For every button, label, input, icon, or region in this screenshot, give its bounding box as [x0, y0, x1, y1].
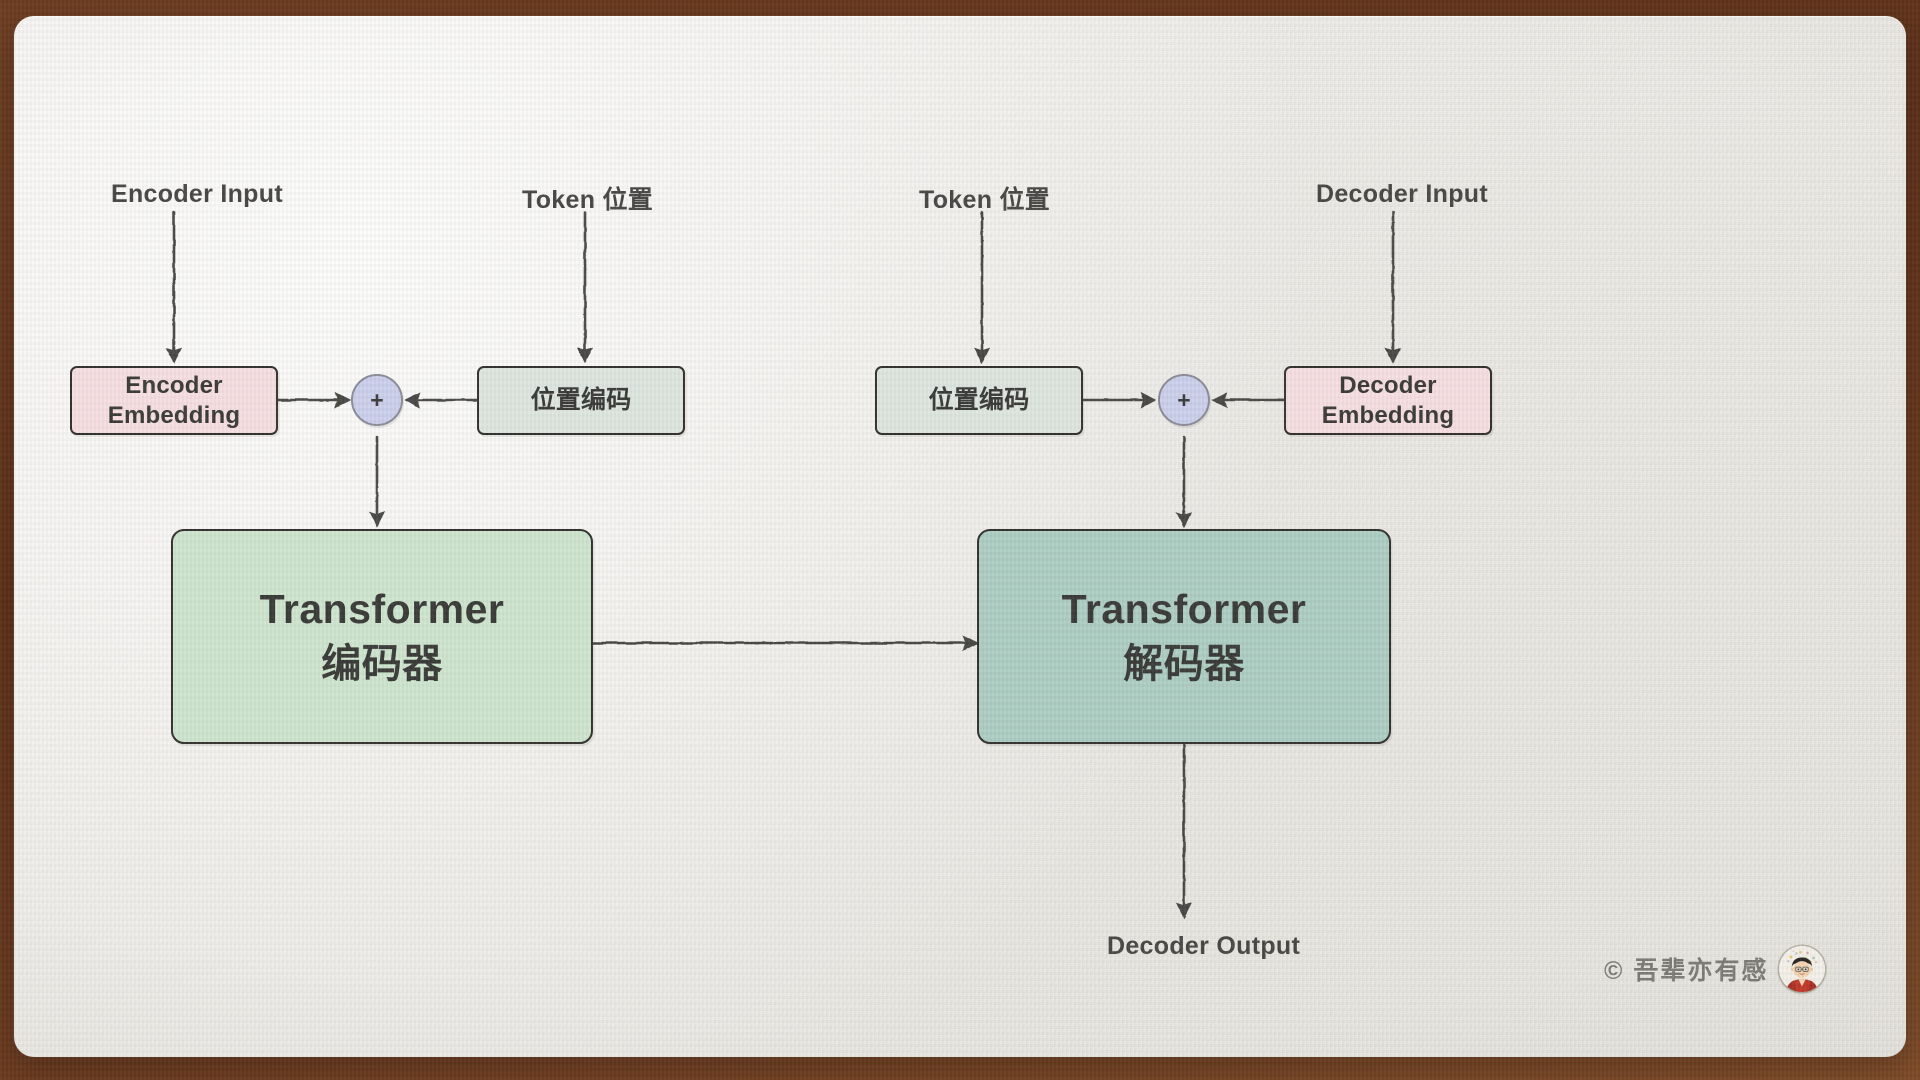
node-encoder-embedding[interactable]: Encoder Embedding [70, 366, 278, 435]
caption-encoder-input: Encoder Input [111, 180, 283, 209]
node-transformer-decoder[interactable]: Transformer 解码器 [977, 529, 1391, 744]
watermark-text: © 吾辈亦有感 [1604, 951, 1768, 987]
node-positional-encoding-left[interactable]: 位置编码 [477, 366, 685, 435]
add-operator-right[interactable]: + [1158, 374, 1210, 426]
transformer-encoder-line-2: 编码器 [321, 640, 443, 689]
diagram-canvas: Encoder Input Token 位置 Token 位置 Decoder … [14, 16, 1906, 1057]
plus-icon: + [370, 387, 383, 414]
node-transformer-encoder[interactable]: Transformer 编码器 [171, 529, 593, 744]
outer-frame: Encoder Input Token 位置 Token 位置 Decoder … [0, 0, 1920, 1080]
transformer-encoder-line-1: Transformer [260, 584, 505, 634]
watermark: © 吾辈亦有感 [1604, 946, 1825, 992]
transformer-decoder-line-2: 解码器 [1123, 640, 1245, 689]
caption-decoder-input: Decoder Input [1316, 180, 1488, 209]
transformer-decoder-line-1: Transformer [1062, 584, 1307, 634]
caption-token-position-right: Token 位置 [919, 180, 1050, 216]
avatar-illustration [1779, 946, 1825, 992]
plus-icon: + [1177, 387, 1190, 414]
positional-encoding-left-label: 位置编码 [531, 385, 632, 416]
caption-decoder-output: Decoder Output [1107, 932, 1300, 961]
positional-encoding-right-label: 位置编码 [929, 385, 1030, 416]
caption-token-position-left: Token 位置 [522, 180, 653, 216]
avatar [1779, 946, 1825, 992]
node-decoder-embedding[interactable]: Decoder Embedding [1284, 366, 1492, 435]
decoder-embedding-line-2: Embedding [1322, 401, 1454, 430]
paper-canvas: Encoder Input Token 位置 Token 位置 Decoder … [14, 16, 1906, 1057]
node-positional-encoding-right[interactable]: 位置编码 [875, 366, 1083, 435]
decoder-embedding-line-1: Decoder [1339, 371, 1436, 400]
encoder-embedding-line-1: Encoder [125, 371, 222, 400]
encoder-embedding-line-2: Embedding [108, 401, 240, 430]
add-operator-left[interactable]: + [351, 374, 403, 426]
